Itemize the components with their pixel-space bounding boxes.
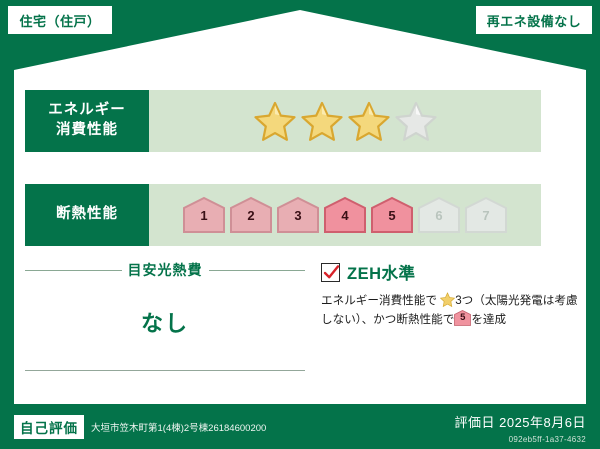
insulation-level-1: 1 — [182, 196, 226, 234]
energy-performance-key-line2: 消費性能 — [56, 121, 118, 141]
property-address: 大垣市笠木町第1(4棟)2号棟26184600200 — [91, 420, 266, 434]
insulation-level-5: 5 — [370, 196, 414, 234]
label-content: エネルギー 消費性能 断熱性能 1234567 目安光熱費 なし — [25, 90, 575, 390]
insulation-level-4: 4 — [323, 196, 367, 234]
utility-cost-section: 目安光熱費 なし — [25, 260, 305, 371]
star-icon-filled — [253, 100, 297, 142]
star-rating — [253, 100, 438, 142]
insulation-level-label: 7 — [464, 209, 508, 222]
label-subtitle: 建築物省エネ法に基づく — [0, 36, 600, 55]
utility-cost-heading-label: 目安光熱費 — [128, 260, 203, 280]
label-title-block: 建築物省エネ法に基づく 省エネ性能ラベル — [0, 36, 600, 93]
inline-insulation-badge: 5 — [454, 310, 471, 326]
utility-cost-value: なし — [25, 306, 305, 338]
insulation-level-6: 6 — [417, 196, 461, 234]
inline-insulation-badge-label: 5 — [454, 313, 471, 323]
insulation-performance-row: 断熱性能 1234567 — [25, 184, 541, 246]
star-icon-filled — [300, 100, 344, 142]
footer-right-group: 評価日 2025年8月6日 092eb5ff-1a37-4632 — [455, 412, 587, 444]
utility-cost-heading: 目安光熱費 — [25, 260, 305, 280]
heading-rule-left — [25, 270, 122, 271]
utility-cost-divider — [25, 370, 305, 371]
insulation-level-2: 2 — [229, 196, 273, 234]
page-title: 省エネ性能ラベル — [0, 59, 600, 93]
zeh-standard-section: ZEH水準 エネルギー消費性能で 3つ（太陽光発電は考慮しない）、かつ断熱性能で… — [321, 260, 581, 329]
zeh-standard-description: エネルギー消費性能で 3つ（太陽光発電は考慮しない）、かつ断熱性能で 5 を達成 — [321, 291, 581, 329]
insulation-level-label: 3 — [276, 209, 320, 222]
zeh-standard-title: ZEH水準 — [347, 260, 416, 284]
zeh-desc-part3: を達成 — [471, 313, 506, 326]
zeh-desc-part1: エネルギー消費性能で — [321, 294, 437, 307]
insulation-level-scale: 1234567 — [182, 196, 508, 234]
tag-building-type: 住宅（住戸） — [8, 6, 112, 34]
footer-left-group: 自己評価 大垣市笠木町第1(4棟)2号棟26184600200 — [14, 415, 266, 439]
tag-renewable-equipment: 再エネ設備なし — [476, 6, 592, 34]
label-footer: 自己評価 大垣市笠木町第1(4棟)2号棟26184600200 評価日 2025… — [0, 404, 600, 449]
insulation-level-7: 7 — [464, 196, 508, 234]
label-identifier: 092eb5ff-1a37-4632 — [455, 435, 587, 444]
heading-rule-right — [209, 270, 306, 271]
evaluation-date: 評価日 2025年8月6日 — [455, 412, 587, 431]
star-icon-filled — [347, 100, 391, 142]
energy-performance-key: エネルギー 消費性能 — [25, 90, 149, 152]
check-icon — [323, 264, 340, 281]
insulation-level-label: 5 — [370, 209, 414, 222]
tag-building-type-label: 住宅（住戸） — [19, 11, 100, 30]
energy-performance-row: エネルギー 消費性能 — [25, 90, 541, 152]
insulation-level-label: 2 — [229, 209, 273, 222]
energy-performance-label: 住宅（住戸） 再エネ設備なし 建築物省エネ法に基づく 省エネ性能ラベル エネルギ… — [0, 0, 600, 449]
inline-star-icon — [440, 292, 455, 307]
insulation-level-label: 6 — [417, 209, 461, 222]
zeh-standard-heading: ZEH水準 — [321, 260, 581, 284]
energy-performance-value — [149, 90, 541, 152]
insulation-performance-key: 断熱性能 — [25, 184, 149, 246]
insulation-performance-value: 1234567 — [149, 184, 541, 246]
insulation-performance-key-label: 断熱性能 — [56, 205, 118, 225]
star-icon-empty — [394, 100, 438, 142]
zeh-checkbox[interactable] — [321, 263, 340, 282]
insulation-level-label: 1 — [182, 209, 226, 222]
insulation-level-label: 4 — [323, 209, 367, 222]
evaluation-type-badge: 自己評価 — [14, 415, 84, 439]
zeh-desc-star-count: 3つ（太陽光発電 — [455, 294, 543, 307]
tag-renewable-equipment-label: 再エネ設備なし — [487, 11, 582, 30]
insulation-level-3: 3 — [276, 196, 320, 234]
energy-performance-key-line1: エネルギー — [48, 101, 126, 121]
